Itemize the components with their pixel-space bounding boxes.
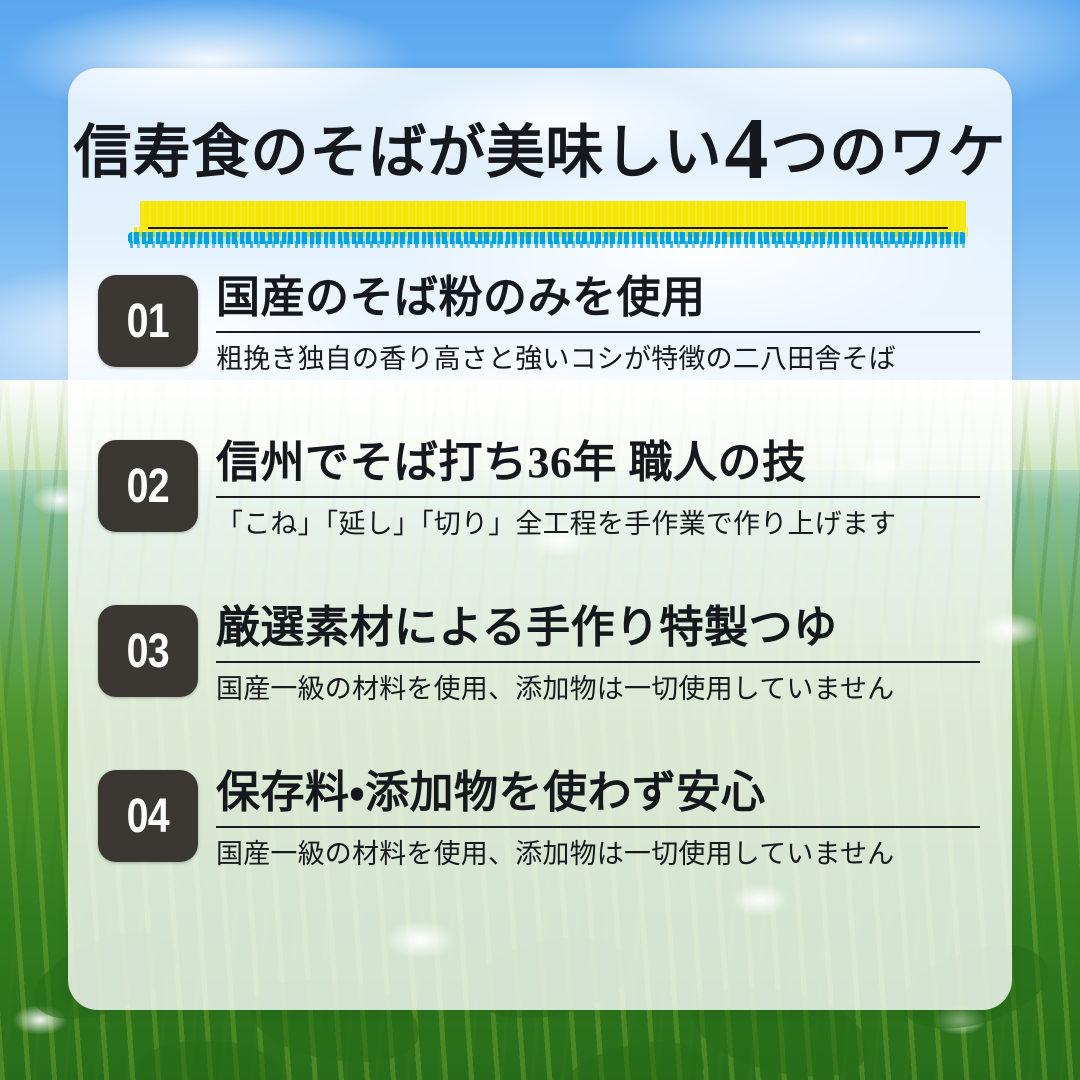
feature-heading: 厳選素材による手作り特製つゆ	[216, 601, 984, 655]
feature-number-badge: 03	[98, 605, 198, 697]
brush-cyan-fray	[130, 241, 966, 248]
feature-body: 信州でそば打ち36年 職人の技 「こね」「延し」「切り」全工程を手作業で作り上げ…	[216, 436, 984, 542]
feature-number-label: 02	[127, 459, 169, 514]
leaf-shape	[137, 1033, 283, 1080]
feature-body: 国産のそば粉のみを使用 粗挽き独自の香り高さと強いコシが特徴の二八田舎そば	[216, 271, 984, 377]
feature-divider	[216, 826, 980, 828]
feature-subtext: 「こね」「延し」「切り」全工程を手作業で作り上げます	[216, 507, 984, 542]
feature-divider	[216, 661, 980, 663]
title-lead-text: 信寿食のそばが美味しい	[73, 120, 722, 185]
feature-number-label: 01	[127, 294, 169, 349]
feature-body: 保存料・添加物を使わず安心 国産一級の材料を使用、添加物は一切使用していません	[216, 766, 984, 872]
feature-number-label: 03	[127, 624, 169, 679]
feature-body: 厳選素材による手作り特製つゆ 国産一級の材料を使用、添加物は一切使用していません	[216, 601, 984, 707]
brush-underline-decoration	[128, 201, 966, 247]
feature-subtext: 国産一級の材料を使用、添加物は一切使用していません	[216, 672, 984, 707]
feature-item: 01 国産のそば粉のみを使用 粗挽き独自の香り高さと強いコシが特徴の二八田舎そば	[68, 275, 1012, 440]
feature-heading: 国産のそば粉のみを使用	[216, 271, 984, 325]
feature-item: 04 保存料・添加物を使わず安心 国産一級の材料を使用、添加物は一切使用していま…	[68, 770, 1012, 935]
feature-number-badge: 02	[98, 440, 198, 532]
feature-heading: 信州でそば打ち36年 職人の技	[216, 436, 984, 490]
brush-hairline	[148, 227, 948, 229]
feature-divider	[216, 331, 980, 333]
feature-list: 01 国産のそば粉のみを使用 粗挽き独自の香り高さと強いコシが特徴の二八田舎そば…	[68, 275, 1012, 935]
feature-number-badge: 04	[98, 770, 198, 862]
feature-subtext: 国産一級の材料を使用、添加物は一切使用していません	[216, 837, 984, 872]
feature-number-label: 04	[127, 789, 169, 844]
feature-divider	[216, 496, 980, 498]
promo-banner: 信寿食のそばが美味しい4つのワケ 01 国産のそば粉のみを使用 粗挽き独自の香り…	[0, 0, 1080, 1080]
leaf-shape	[556, 1033, 710, 1080]
title-block: 信寿食のそばが美味しい4つのワケ	[68, 106, 1012, 256]
content-card: 信寿食のそばが美味しい4つのワケ 01 国産のそば粉のみを使用 粗挽き独自の香り…	[68, 68, 1012, 1010]
title-count-number: 4	[723, 101, 771, 198]
feature-number-badge: 01	[98, 275, 198, 367]
page-title: 信寿食のそばが美味しい4つのワケ	[68, 106, 1012, 194]
feature-item: 02 信州でそば打ち36年 職人の技 「こね」「延し」「切り」全工程を手作業で作…	[68, 440, 1012, 605]
feature-heading: 保存料・添加物を使わず安心	[216, 766, 984, 820]
feature-item: 03 厳選素材による手作り特製つゆ 国産一級の材料を使用、添加物は一切使用してい…	[68, 605, 1012, 770]
feature-subtext: 粗挽き独自の香り高さと強いコシが特徴の二八田舎そば	[216, 342, 984, 377]
title-tail-text: つのワケ	[771, 120, 1007, 185]
